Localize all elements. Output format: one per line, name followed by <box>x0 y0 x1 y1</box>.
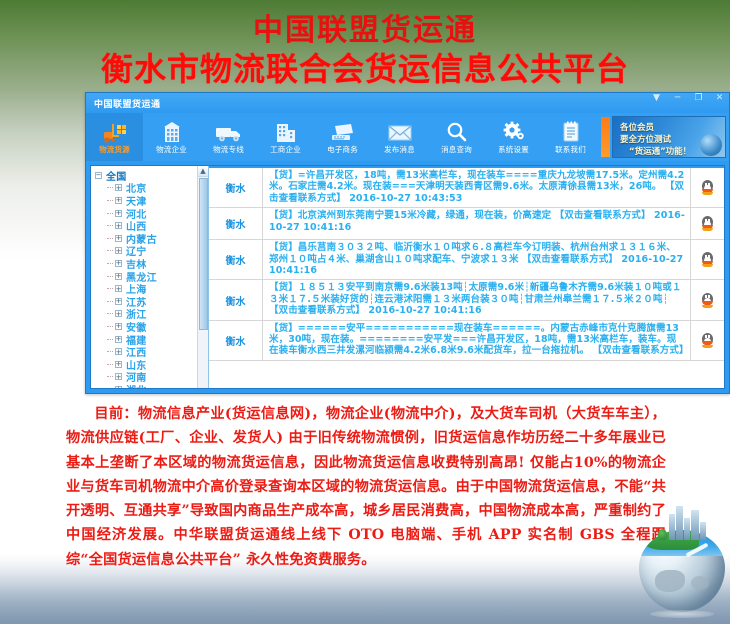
banner-line-3: “货运通”功能！ <box>629 145 691 157</box>
table-row[interactable]: 衡水【货】======安平===========现在装车======。内蒙古赤峰… <box>209 321 724 361</box>
window-titlebar: 中国联盟货运通 ▼ ─ ❐ ✕ <box>86 93 729 113</box>
qq-penguin-icon[interactable] <box>701 293 714 308</box>
expand-icon[interactable]: + <box>115 361 122 368</box>
qq-penguin-icon[interactable] <box>701 216 714 231</box>
truck-icon <box>215 119 243 143</box>
toolbar-label: 发布消息 <box>384 144 415 155</box>
row-timestamp: 2016-10-27 10:43:53 <box>346 193 463 204</box>
toolbar-item-cargo-source[interactable]: 物流货源 <box>86 113 143 161</box>
row-city: 衡水 <box>209 321 263 360</box>
tree-connector <box>107 225 113 226</box>
row-city: 衡水 <box>209 280 263 319</box>
row-city: 衡水 <box>209 168 263 207</box>
expand-icon[interactable]: + <box>115 235 122 242</box>
expand-icon[interactable]: + <box>115 373 122 380</box>
row-contact-cell[interactable] <box>690 208 724 239</box>
expand-icon[interactable]: + <box>115 298 122 305</box>
window-title: 中国联盟货运通 <box>94 97 161 110</box>
document-icon <box>559 119 583 143</box>
close-icon[interactable]: ✕ <box>714 94 725 103</box>
expand-icon[interactable]: + <box>115 323 122 330</box>
collapse-icon[interactable]: − <box>95 172 102 179</box>
toolbar-item-logistics-line[interactable]: 物流专线 <box>200 113 257 161</box>
tree-connector <box>107 351 113 352</box>
region-tree-pane: −全国+北京+天津+河北+山西+内蒙古+辽宁+吉林+黑龙江+上海+江苏+浙江+安… <box>91 166 209 388</box>
page-background-sheen <box>0 594 730 624</box>
promo-banner[interactable]: 各位会员 要全方位测试 “货运通”功能！ <box>612 116 726 158</box>
tree-node[interactable]: +湖北 <box>95 383 197 388</box>
paragraph-text: 目前：物流信息产业(货运信息网)，物流企业(物流中介)，及大货车司机（大货车车主… <box>66 402 666 572</box>
row-city: 衡水 <box>209 240 263 279</box>
qq-penguin-icon[interactable] <box>701 180 714 195</box>
cargo-list-pane: 衡水【货】=许昌开发区，18吨，需13米高栏车，现在装车====重庆九龙坡需17… <box>209 166 724 388</box>
tree-node-label: 全国 <box>106 168 127 183</box>
banner-line-1: 各位会员 <box>620 121 654 133</box>
toolbar-label: 物流企业 <box>156 144 187 155</box>
window-controls: ▼ ─ ❐ ✕ <box>651 94 725 103</box>
tree-connector <box>107 213 113 214</box>
toolbar-label: 消息查询 <box>441 144 472 155</box>
tree-connector <box>107 250 113 251</box>
tree-scrollbar[interactable]: ▲ <box>197 166 208 388</box>
cargo-list: 衡水【货】=许昌开发区，18吨，需13米高栏车，现在装车====重庆九龙坡需17… <box>209 168 724 361</box>
tree-connector <box>107 187 113 188</box>
tree-node-label: 湖北 <box>126 382 147 388</box>
scrollbar-thumb[interactable] <box>199 178 208 330</box>
tree-connector <box>107 313 113 314</box>
row-cargo-text: 【货】昌乐莒南３０３２吨、临沂衡水１０吨求６.８高栏车今订明装、杭州台州求１３１… <box>263 240 690 279</box>
description-paragraph: 目前：物流信息产业(货运信息网)，物流企业(物流中介)，及大货车司机（大货车车主… <box>66 402 666 572</box>
tree-connector <box>107 238 113 239</box>
expand-icon[interactable]: + <box>115 184 122 191</box>
tree-connector <box>107 339 113 340</box>
toolbar-item-ecommerce[interactable]: 电子商务 <box>314 113 371 161</box>
table-row[interactable]: 衡水【货】=许昌开发区，18吨，需13米高栏车，现在装车====重庆九龙坡需17… <box>209 168 724 208</box>
row-cargo-text: 【货】======安平===========现在装车======。内蒙古赤峰市克… <box>263 321 690 360</box>
region-tree: −全国+北京+天津+河北+山西+内蒙古+辽宁+吉林+黑龙江+上海+江苏+浙江+安… <box>91 166 197 388</box>
tree-connector <box>107 288 113 289</box>
row-cargo-text: 【货】１８５１３安平到南京需9.6米装13吨┆太原需9.6米┆新疆乌鲁木齐需9.… <box>263 280 690 319</box>
row-contact-cell[interactable] <box>690 168 724 207</box>
forklift-icon <box>102 119 128 143</box>
row-cargo-text: 【货】=许昌开发区，18吨，需13米高栏车，现在装车====重庆九龙坡需17.5… <box>263 168 690 207</box>
banner-globe-icon <box>700 134 722 156</box>
row-contact-cell[interactable] <box>690 240 724 279</box>
toolbar-label: 电子商务 <box>327 144 358 155</box>
row-timestamp: 2016-10-27 10:41:16 <box>365 305 482 316</box>
tree-connector <box>107 376 113 377</box>
page-title-secondary: 衡水市物流联合会货运信息公共平台 <box>0 50 730 88</box>
toolbar-item-contact-us[interactable]: 联系我们 <box>542 113 599 161</box>
globe-sphere <box>639 530 725 612</box>
scroll-up-arrow-icon[interactable]: ▲ <box>198 166 208 177</box>
toolbar-label: 系统设置 <box>498 144 529 155</box>
toolbar-label: 物流货源 <box>99 144 130 155</box>
toolbar-label: 联系我们 <box>555 144 586 155</box>
expand-icon[interactable]: + <box>115 197 122 204</box>
globe-reflection <box>650 610 714 618</box>
toolbar-item-post-message[interactable]: 发布消息 <box>371 113 428 161</box>
maximize-icon[interactable]: ❐ <box>693 94 704 103</box>
globe-tree-icon <box>658 529 667 540</box>
qq-penguin-icon[interactable] <box>701 252 714 267</box>
qq-penguin-icon[interactable] <box>701 333 714 348</box>
row-contact-cell[interactable] <box>690 280 724 319</box>
window-client-area: −全国+北京+天津+河北+山西+内蒙古+辽宁+吉林+黑龙江+上海+江苏+浙江+安… <box>90 165 725 389</box>
page-headings: 中国联盟货运通 衡水市物流联合会货运信息公共平台 <box>0 14 730 88</box>
globe-building <box>684 518 690 540</box>
banner-line-2: 要全方位测试 <box>620 133 671 145</box>
tree-connector <box>107 276 113 277</box>
expand-icon[interactable]: + <box>115 386 122 388</box>
globe-graphic <box>636 502 728 618</box>
tree-connector <box>107 364 113 365</box>
expand-icon[interactable]: + <box>115 273 122 280</box>
ecommerce-icon <box>329 119 357 143</box>
gear-icon <box>501 119 527 143</box>
expand-icon[interactable]: + <box>115 310 122 317</box>
row-city: 衡水 <box>209 208 263 239</box>
envelope-icon <box>386 119 414 143</box>
globe-building <box>700 522 706 540</box>
globe-continent-secondary <box>691 576 709 590</box>
expand-icon[interactable]: + <box>115 348 122 355</box>
expand-icon[interactable]: + <box>115 222 122 229</box>
toolbar-item-logistics-company[interactable]: 物流企业 <box>143 113 200 161</box>
expand-icon[interactable]: + <box>115 260 122 267</box>
row-timestamp: 2016-10-27 10:41:16 <box>269 210 685 232</box>
tree-connector <box>107 326 113 327</box>
globe-building <box>669 514 675 540</box>
row-cargo-text: 【货】北京滨州到东莞南宁要15米冷藏，绿通，现在装，价高速定 【双击查看联系方式… <box>263 208 690 239</box>
toolbar-item-message-query[interactable]: 消息查询 <box>428 113 485 161</box>
row-contact-cell[interactable] <box>690 321 724 360</box>
toolbar-label: 工商企业 <box>270 144 301 155</box>
tree-connector <box>107 200 113 201</box>
main-toolbar: 物流货源 物流企业 <box>86 113 729 161</box>
menu-chevron-down-icon[interactable]: ▼ <box>651 94 662 103</box>
toolbar-item-system-settings[interactable]: 系统设置 <box>485 113 542 161</box>
tree-connector <box>107 263 113 264</box>
tree-connector <box>107 301 113 302</box>
search-icon <box>445 119 469 143</box>
table-row[interactable]: 衡水【货】昌乐莒南３０３２吨、临沂衡水１０吨求６.８高栏车今订明装、杭州台州求１… <box>209 240 724 280</box>
office-icon <box>274 119 298 143</box>
minimize-icon[interactable]: ─ <box>672 94 683 103</box>
globe-building <box>676 506 683 540</box>
toolbar-label: 物流专线 <box>213 144 244 155</box>
globe-continent-australia <box>655 570 685 592</box>
expand-icon[interactable]: + <box>115 285 122 292</box>
toolbar-item-industrial-company[interactable]: 工商企业 <box>257 113 314 161</box>
row-timestamp: 2016-10-27 10:41:16 <box>269 254 683 276</box>
page-title-primary: 中国联盟货运通 <box>0 14 730 48</box>
toolbar-divider <box>601 117 610 157</box>
expand-icon[interactable]: + <box>115 210 122 217</box>
building-icon <box>160 119 184 143</box>
table-row[interactable]: 衡水【货】北京滨州到东莞南宁要15米冷藏，绿通，现在装，价高速定 【双击查看联系… <box>209 208 724 240</box>
expand-icon[interactable]: + <box>115 336 122 343</box>
globe-city-cluster <box>656 504 710 540</box>
table-row[interactable]: 衡水【货】１８５１３安平到南京需9.6米装13吨┆太原需9.6米┆新疆乌鲁木齐需… <box>209 280 724 320</box>
application-window: 中国联盟货运通 ▼ ─ ❐ ✕ <box>85 92 730 394</box>
globe-building <box>691 510 699 540</box>
expand-icon[interactable]: + <box>115 247 122 254</box>
